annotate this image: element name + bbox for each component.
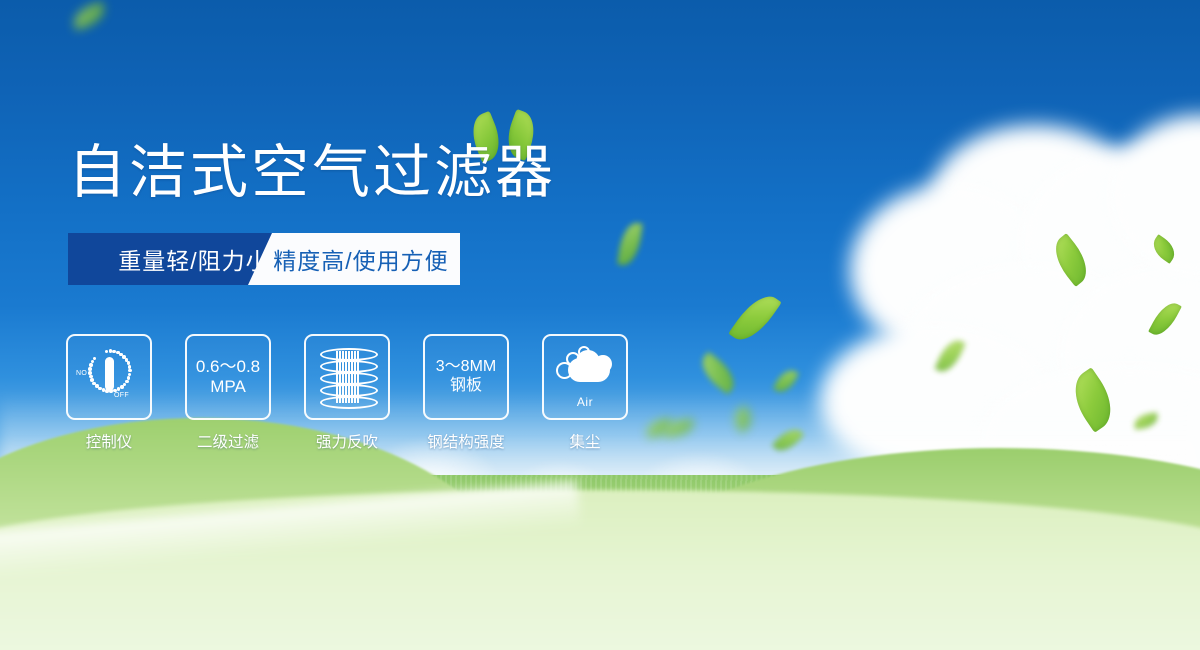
leaf-decoration	[728, 288, 781, 349]
leaf-decoration	[934, 336, 965, 376]
foreground-field	[0, 490, 1200, 650]
pressure-range: 0.6～0.8	[196, 357, 260, 377]
feature-label: 钢结构强度	[427, 430, 505, 452]
tagline-right: 精度高/使用方便	[248, 233, 460, 285]
pressure-text-icon: 0.6～0.8 MPA	[196, 357, 260, 397]
tagline-left-text: 重量轻/阻力小	[118, 242, 269, 276]
steel-thickness: 3～8MM	[436, 358, 496, 377]
feature-icon-box: 0.6～0.8 MPA	[185, 334, 271, 420]
leaf-decoration	[730, 405, 757, 433]
feature-icon-box: NO OFF	[66, 334, 152, 420]
feature-label: 控制仪	[86, 430, 133, 452]
leaf-decoration	[1148, 298, 1182, 340]
feature-item-controller[interactable]: NO OFF 控制仪	[68, 334, 150, 452]
feature-label: 二级过滤	[197, 430, 259, 452]
leaf-decoration	[695, 351, 742, 394]
air-cloud-icon	[554, 346, 616, 394]
air-label: Air	[577, 395, 593, 409]
gauge-icon: NO OFF	[78, 346, 140, 408]
grass-field	[0, 475, 1200, 650]
leaf-decoration	[645, 417, 674, 438]
gauge-no-label: NO	[76, 370, 87, 377]
leaf-decoration	[773, 366, 799, 396]
feature-icon-box: 3～8MM 钢板	[423, 334, 509, 420]
feature-list: NO OFF 控制仪 0.6～0.8 MPA 二级过滤	[68, 334, 626, 452]
pressure-unit: MPA	[196, 377, 260, 397]
gauge-off-label: OFF	[114, 392, 129, 399]
feature-item-two-stage-filter[interactable]: 0.6～0.8 MPA 二级过滤	[187, 334, 269, 452]
feature-icon-box: Air	[542, 334, 628, 420]
leaf-decoration	[70, 1, 109, 31]
leaf-decoration	[772, 424, 804, 457]
leaf-decoration	[1133, 412, 1159, 429]
feature-label: 集尘	[569, 430, 600, 452]
feature-item-steel-strength[interactable]: 3～8MM 钢板 钢结构强度	[425, 334, 507, 452]
product-banner: 自洁式空气过滤器 重量轻/阻力小 精度高/使用方便 NO OFF 控制仪	[0, 0, 1200, 650]
tagline-badge: 重量轻/阻力小 精度高/使用方便	[68, 233, 460, 285]
feature-icon-box	[304, 334, 390, 420]
steel-text-icon: 3～8MM 钢板	[436, 358, 496, 396]
steel-material: 钢板	[436, 377, 496, 396]
filter-stack-icon	[320, 348, 374, 406]
page-title: 自洁式空气过滤器	[68, 143, 556, 204]
feature-label: 强力反吹	[316, 430, 378, 452]
leaf-decoration	[1148, 234, 1180, 264]
leaf-decoration	[1046, 233, 1096, 287]
feature-item-dust-collection[interactable]: Air 集尘	[544, 334, 626, 452]
feature-item-strong-backblow[interactable]: 强力反吹	[306, 334, 388, 452]
leaf-decoration	[1063, 367, 1123, 432]
leaf-decoration	[663, 418, 695, 437]
tagline-right-text: 精度高/使用方便	[259, 242, 448, 276]
leaf-decoration	[617, 221, 643, 267]
